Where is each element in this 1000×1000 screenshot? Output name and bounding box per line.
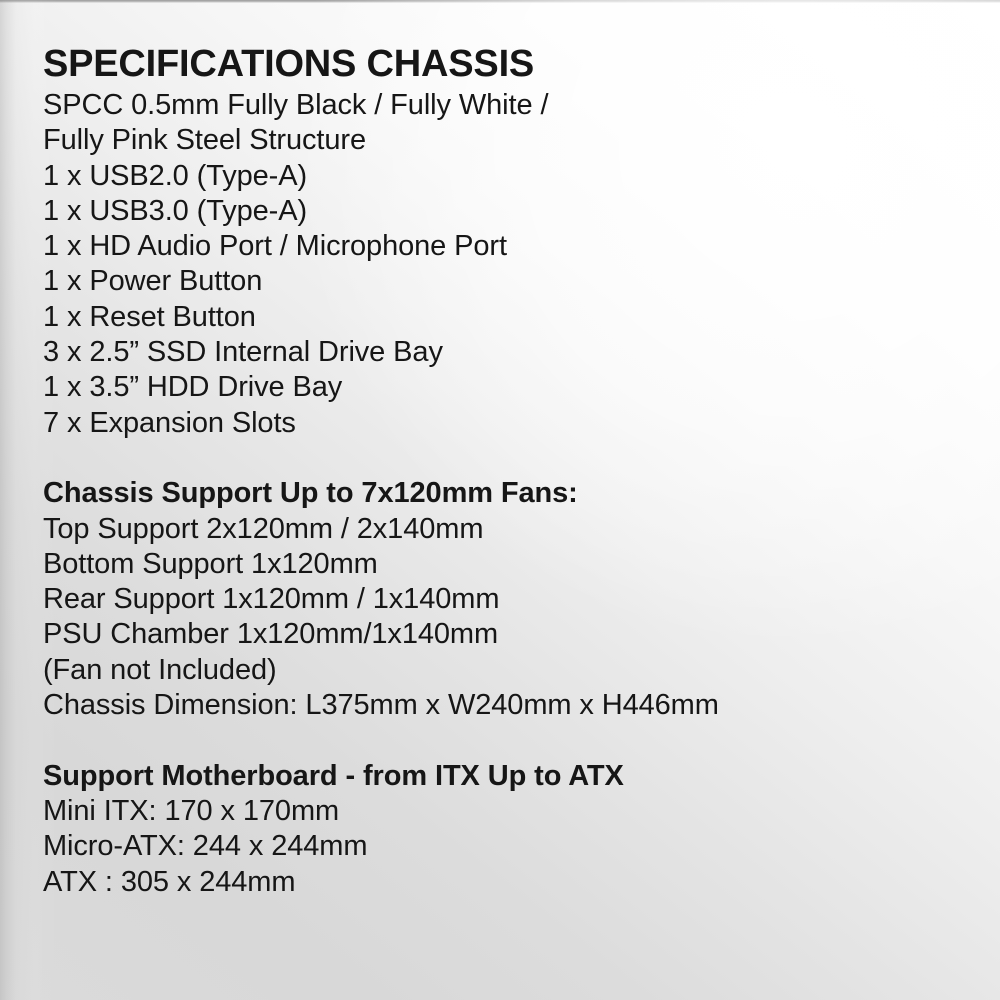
spec-line: Rear Support 1x120mm / 1x140mm [43, 582, 980, 617]
spec-line: 1 x USB2.0 (Type-A) [43, 159, 980, 194]
spec-line: 1 x HD Audio Port / Microphone Port [43, 229, 980, 264]
spec-line: 7 x Expansion Slots [43, 406, 980, 441]
spec-line: ATX : 305 x 244mm [43, 865, 980, 900]
spec-line: Mini ITX: 170 x 170mm [43, 794, 980, 829]
section-heading: Support Motherboard - from ITX Up to ATX [43, 759, 980, 794]
spec-line: Fully Pink Steel Structure [43, 123, 980, 158]
spec-line: 3 x 2.5” SSD Internal Drive Bay [43, 335, 980, 370]
section-motherboard-support: Support Motherboard - from ITX Up to ATX… [43, 759, 980, 900]
spec-line: Micro-ATX: 244 x 244mm [43, 829, 980, 864]
section-chassis-specs: SPCC 0.5mm Fully Black / Fully White / F… [43, 88, 980, 441]
spec-line: (Fan not Included) [43, 653, 980, 688]
spec-line: SPCC 0.5mm Fully Black / Fully White / [43, 88, 980, 123]
page-title: SPECIFICATIONS CHASSIS [43, 41, 980, 87]
section-spacer [43, 441, 980, 476]
spec-line: Chassis Dimension: L375mm x W240mm x H44… [43, 688, 980, 723]
specification-sheet: SPECIFICATIONS CHASSIS SPCC 0.5mm Fully … [0, 0, 1000, 1000]
top-edge-rule [0, 0, 1000, 3]
spec-line: 1 x Reset Button [43, 300, 980, 335]
spec-line: 1 x USB3.0 (Type-A) [43, 194, 980, 229]
section-heading: Chassis Support Up to 7x120mm Fans: [43, 476, 980, 511]
spec-line: PSU Chamber 1x120mm/1x140mm [43, 617, 980, 652]
spec-line: Bottom Support 1x120mm [43, 547, 980, 582]
spec-line: 1 x 3.5” HDD Drive Bay [43, 370, 980, 405]
specification-content: SPECIFICATIONS CHASSIS SPCC 0.5mm Fully … [43, 41, 980, 900]
spec-line: Top Support 2x120mm / 2x140mm [43, 512, 980, 547]
section-spacer [43, 723, 980, 758]
section-fan-support: Chassis Support Up to 7x120mm Fans: Top … [43, 476, 980, 723]
spec-line: 1 x Power Button [43, 264, 980, 299]
